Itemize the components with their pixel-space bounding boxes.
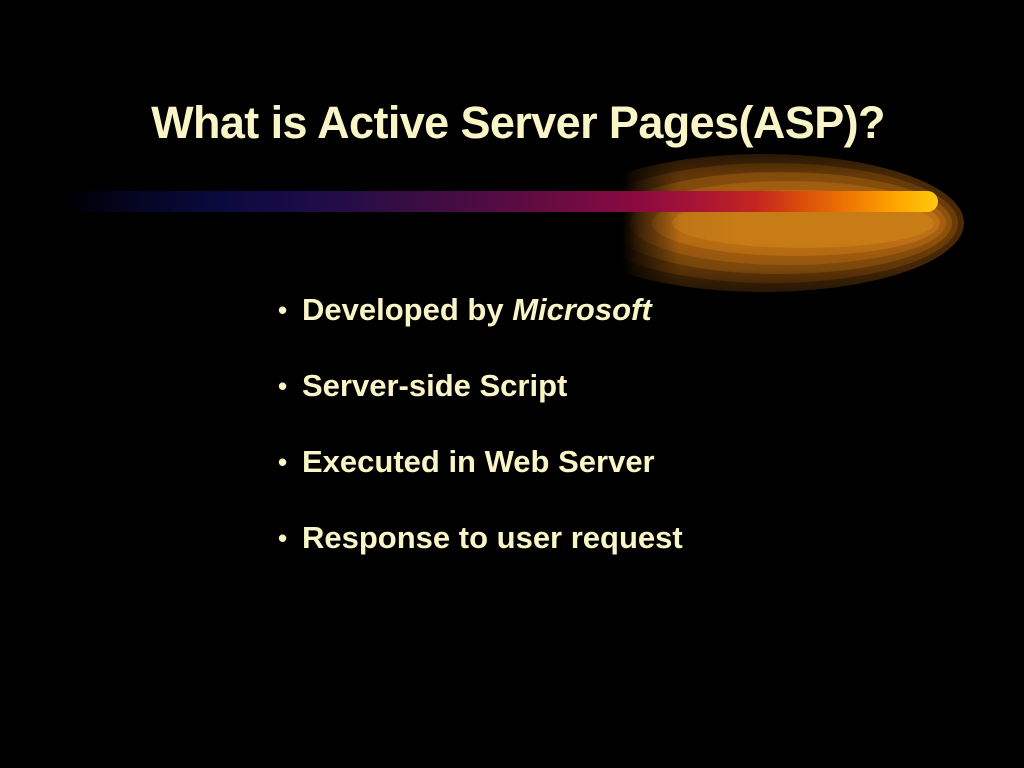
bullet-list: • Developed by Microsoft • Server-side S…	[278, 288, 978, 592]
slide-title: What is Active Server Pages(ASP)?	[78, 96, 958, 150]
gradient-divider-bar	[72, 191, 938, 212]
bullet-text-lead-2: Executed in Web Server	[302, 444, 655, 479]
halo-decoration	[560, 148, 980, 298]
presentation-slide: What is Active Server Pages(ASP)? • Deve…	[0, 0, 1024, 768]
halo-ring-2	[586, 163, 958, 283]
list-item: • Executed in Web Server	[278, 440, 978, 516]
halo-ring-1	[562, 154, 964, 292]
bullet-text-0: Developed by Microsoft	[302, 288, 652, 332]
bullet-text-1: Server-side Script	[302, 364, 567, 408]
list-item: • Server-side Script	[278, 364, 978, 440]
bullet-text-emphasis-0: Microsoft	[512, 292, 652, 327]
list-item: • Response to user request	[278, 516, 978, 592]
bullet-dot-icon: •	[278, 516, 302, 560]
halo-shading-overlay	[560, 148, 980, 298]
list-item: • Developed by Microsoft	[278, 288, 978, 364]
bullet-text-lead-0: Developed by	[302, 292, 512, 327]
bullet-dot-icon: •	[278, 288, 302, 332]
bullet-text-3: Response to user request	[302, 516, 683, 560]
bullet-dot-icon: •	[278, 440, 302, 484]
bullet-text-lead-3: Response to user request	[302, 520, 683, 555]
bullet-text-lead-1: Server-side Script	[302, 368, 567, 403]
bullet-dot-icon: •	[278, 364, 302, 408]
bullet-text-2: Executed in Web Server	[302, 440, 655, 484]
halo-ring-3	[608, 172, 952, 274]
